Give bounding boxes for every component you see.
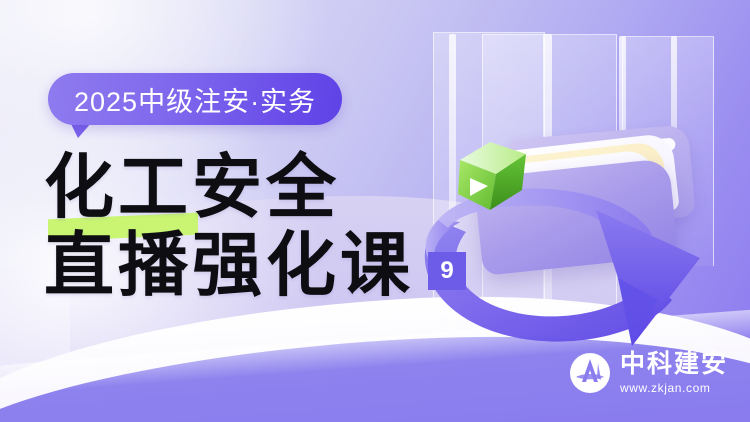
brand-name: 中科建安 [620, 352, 728, 377]
course-tag-label: 2025中级注安·实务 [74, 80, 316, 119]
headline-block: 化工安全 直播强化课 9 [44, 150, 474, 306]
brand-website: www.zkjan.com [620, 382, 728, 394]
headline-line-2: 直播强化课 [44, 228, 414, 306]
course-banner: 2025中级注安·实务 化工安全 直播强化课 9 中科建安 www.zkjan.… [0, 0, 750, 422]
headline-line-2-row: 直播强化课 9 [44, 228, 474, 306]
headline-line-1: 化工安全 [44, 150, 474, 228]
brand-logo[interactable]: 中科建安 www.zkjan.com [569, 352, 728, 394]
zkjan-circle-mark-icon [569, 352, 611, 394]
course-tag-pill: 2025中级注安·实务 [48, 73, 342, 125]
logo-text-block: 中科建安 www.zkjan.com [620, 352, 728, 394]
episode-badge: 9 [428, 252, 466, 290]
